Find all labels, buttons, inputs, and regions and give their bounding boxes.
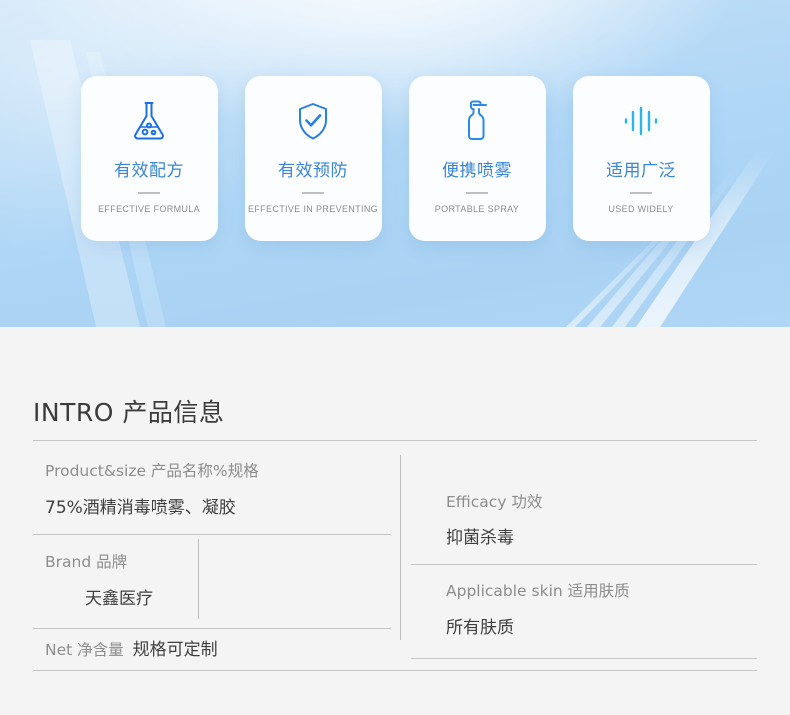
- feature-card-subtitle: EFFECTIVE IN PREVENTING: [248, 203, 378, 215]
- shield-check-icon: [293, 98, 333, 144]
- field-efficacy: Efficacy 功效 抑菌杀毒: [446, 490, 542, 548]
- divider-right-2: [411, 658, 757, 659]
- divider: [138, 192, 160, 194]
- field-product-size: Product&size 产品名称%规格 75%酒精消毒喷雾、凝胶: [45, 459, 259, 518]
- divider: [302, 192, 324, 194]
- divider: [630, 192, 652, 194]
- feature-card-title: 适用广泛: [606, 156, 676, 181]
- field-label: Brand 品牌: [45, 550, 153, 572]
- hero-banner: 有效配方 EFFECTIVE FORMULA 有效预防 EFFECTIVE IN…: [0, 0, 790, 327]
- divider-left-2: [33, 628, 391, 629]
- product-info-section: INTRO 产品信息 Product&size 产品名称%规格 75%酒精消毒喷…: [0, 327, 790, 715]
- divider-left-1: [33, 534, 391, 535]
- field-brand: Brand 品牌 天鑫医疗: [45, 550, 153, 609]
- page-title: INTRO 产品信息: [33, 393, 224, 429]
- feature-card-list: 有效配方 EFFECTIVE FORMULA 有效预防 EFFECTIVE IN…: [0, 76, 790, 241]
- field-label: Applicable skin 适用肤质: [446, 579, 630, 601]
- field-value: 抑菌杀毒: [446, 523, 542, 548]
- field-value: 75%酒精消毒喷雾、凝胶: [45, 493, 259, 518]
- flask-icon: [129, 98, 169, 144]
- feature-card-subtitle: EFFECTIVE FORMULA: [98, 203, 200, 215]
- feature-card-effective-formula[interactable]: 有效配方 EFFECTIVE FORMULA: [81, 76, 218, 241]
- feature-card-used-widely[interactable]: 适用广泛 USED WIDELY: [573, 76, 710, 241]
- divider-brand-column: [198, 539, 199, 619]
- field-label: Net 净含量: [45, 638, 124, 660]
- divider-top: [33, 440, 757, 441]
- field-label: Product&size 产品名称%规格: [45, 459, 259, 481]
- feature-card-title: 有效配方: [114, 156, 184, 181]
- field-value: 规格可定制: [133, 635, 218, 660]
- spray-bottle-icon: [457, 98, 497, 144]
- field-value: 所有肤质: [446, 613, 630, 638]
- feature-card-title: 有效预防: [278, 156, 348, 181]
- feature-card-portable-spray[interactable]: 便携喷雾 PORTABLE SPRAY: [409, 76, 546, 241]
- field-label: Efficacy 功效: [446, 490, 542, 512]
- waveform-icon: [621, 98, 661, 144]
- field-value: 天鑫医疗: [85, 584, 153, 609]
- feature-card-subtitle: USED WIDELY: [608, 203, 673, 215]
- divider-right-1: [411, 564, 757, 565]
- feature-card-subtitle: PORTABLE SPRAY: [435, 203, 519, 215]
- divider: [466, 192, 488, 194]
- divider-bottom: [33, 670, 757, 671]
- feature-card-effective-in-preventing[interactable]: 有效预防 EFFECTIVE IN PREVENTING: [245, 76, 382, 241]
- divider-column: [400, 455, 401, 640]
- field-applicable-skin: Applicable skin 适用肤质 所有肤质: [446, 579, 630, 638]
- field-net-content: Net 净含量 规格可定制: [45, 635, 218, 660]
- feature-card-title: 便携喷雾: [442, 156, 512, 181]
